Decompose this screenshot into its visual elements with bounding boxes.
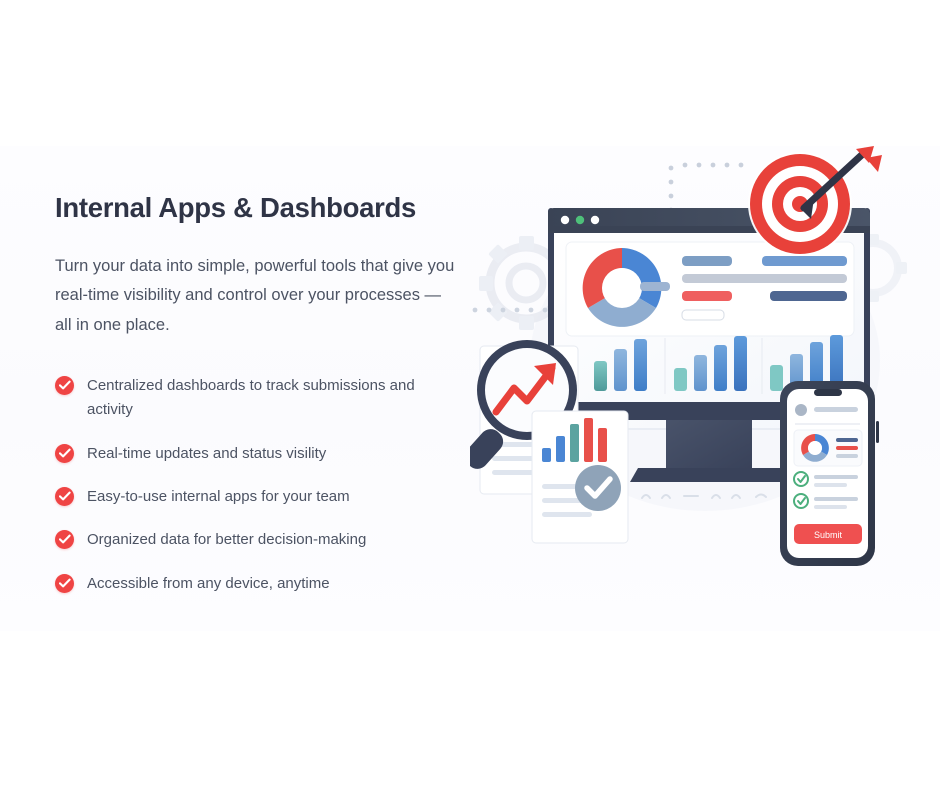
monitor-neck	[666, 420, 752, 468]
section-subhead: Turn your data into simple, powerful too…	[55, 252, 455, 340]
list-item: Centralized dashboards to track submissi…	[55, 374, 470, 423]
list-item: Real-time updates and status visility	[55, 442, 470, 466]
check-circle-icon	[55, 444, 74, 463]
text-column: Internal Apps & Dashboards Turn your dat…	[0, 146, 470, 631]
window-control-dots	[561, 216, 599, 224]
donut-legend-chip	[640, 282, 670, 291]
phone-button	[876, 421, 879, 443]
mobile-phone: Submit	[780, 381, 879, 566]
window-dot-white-2[interactable]	[591, 216, 599, 224]
row-chip-3	[682, 274, 847, 283]
list-item-label: Accessible from any device, anytime	[87, 572, 330, 596]
feature-list: Centralized dashboards to track submissi…	[55, 374, 470, 596]
check-circle-icon	[55, 530, 74, 549]
illustration-column: Submit	[470, 146, 940, 631]
list-item-label: Centralized dashboards to track submissi…	[87, 374, 442, 423]
section-content: Internal Apps & Dashboards Turn your dat…	[0, 146, 940, 631]
check-circle-icon	[55, 574, 74, 593]
check-badge-icon	[575, 465, 621, 511]
list-item-label: Easy-to-use internal apps for your team	[87, 485, 350, 509]
row-chip-4	[682, 291, 732, 301]
phone-submit-label: Submit	[814, 530, 843, 540]
list-item-label: Organized data for better decision-makin…	[87, 528, 366, 552]
phone-notch	[814, 389, 842, 396]
list-item: Accessible from any device, anytime	[55, 572, 470, 596]
row-chip-2	[762, 256, 847, 266]
monitor-base	[630, 468, 788, 482]
page-title: Internal Apps & Dashboards	[55, 191, 470, 224]
check-circle-icon	[55, 376, 74, 395]
arrow-fletching-2	[866, 155, 882, 172]
phone-chart-legend	[836, 438, 858, 458]
row-chip-5	[770, 291, 847, 301]
row-chip-1	[682, 256, 732, 266]
window-dot-white[interactable]	[561, 216, 569, 224]
landing-section: Internal Apps & Dashboards Turn your dat…	[0, 0, 940, 788]
phone-donut-chart	[801, 434, 829, 462]
list-item-label: Real-time updates and status visility	[87, 442, 326, 466]
list-item: Organized data for better decision-makin…	[55, 528, 470, 552]
window-dot-green[interactable]	[576, 216, 584, 224]
dashboard-illustration: Submit	[470, 146, 940, 631]
phone-avatar	[795, 404, 807, 416]
list-item: Easy-to-use internal apps for your team	[55, 485, 470, 509]
row-chip-6	[682, 310, 724, 320]
dotted-line-vertical	[669, 163, 744, 213]
check-circle-icon	[55, 487, 74, 506]
